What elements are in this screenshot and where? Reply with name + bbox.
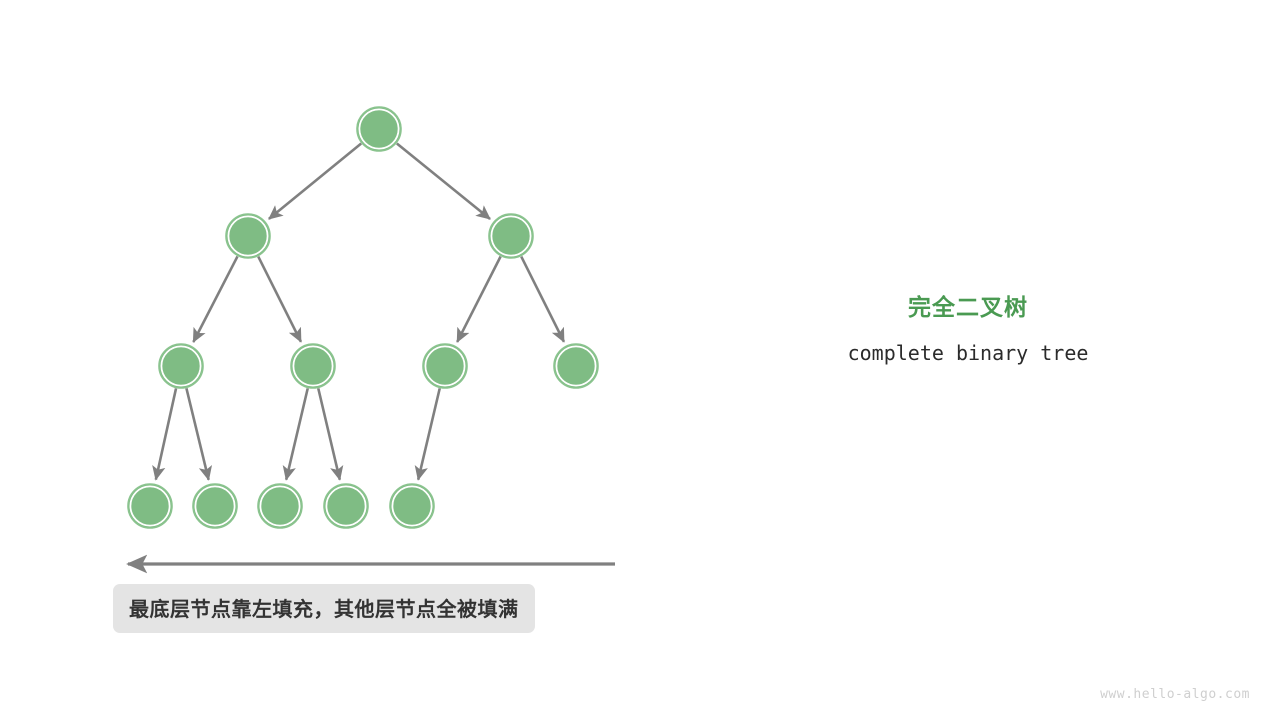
tree-node bbox=[423, 344, 467, 388]
tree-node-disc bbox=[493, 218, 530, 255]
legend-block: 完全二叉树 complete binary tree bbox=[768, 292, 1168, 365]
tree-edge bbox=[521, 257, 564, 342]
tree-edge bbox=[258, 257, 301, 342]
tree-node-disc bbox=[132, 488, 169, 525]
tree-edge bbox=[156, 388, 176, 479]
tree-node bbox=[291, 344, 335, 388]
tree-node bbox=[258, 484, 302, 528]
tree-node-disc bbox=[295, 348, 332, 385]
caption-badge: 最底层节点靠左填充，其他层节点全被填满 bbox=[113, 584, 535, 633]
legend-title: 完全二叉树 bbox=[768, 292, 1168, 322]
tree-node-disc bbox=[197, 488, 234, 525]
legend-subtitle: complete binary tree bbox=[768, 341, 1168, 365]
tree-node bbox=[128, 484, 172, 528]
tree-node bbox=[390, 484, 434, 528]
tree-edge bbox=[286, 388, 308, 479]
tree-node bbox=[226, 214, 270, 258]
tree-node bbox=[357, 107, 401, 151]
tree-edge bbox=[397, 143, 490, 219]
tree-edge bbox=[457, 257, 500, 342]
tree-node bbox=[489, 214, 533, 258]
tree-edge bbox=[418, 388, 440, 479]
tree-node-disc bbox=[230, 218, 267, 255]
diagram-canvas: 完全二叉树 complete binary tree 最底层节点靠左填充，其他层… bbox=[0, 0, 1280, 720]
tree-nodes bbox=[128, 107, 598, 528]
tree-edges bbox=[156, 143, 564, 479]
tree-node-disc bbox=[328, 488, 365, 525]
tree-node-disc bbox=[558, 348, 595, 385]
tree-edge bbox=[269, 144, 361, 219]
tree-node-disc bbox=[361, 111, 398, 148]
tree-node-disc bbox=[394, 488, 431, 525]
tree-node bbox=[324, 484, 368, 528]
tree-node-disc bbox=[262, 488, 299, 525]
tree-node bbox=[554, 344, 598, 388]
tree-edge bbox=[193, 256, 237, 342]
watermark-text: www.hello-algo.com bbox=[1100, 687, 1250, 702]
tree-node bbox=[193, 484, 237, 528]
tree-node-disc bbox=[163, 348, 200, 385]
tree-edge bbox=[318, 388, 340, 479]
tree-node-disc bbox=[427, 348, 464, 385]
tree-node bbox=[159, 344, 203, 388]
tree-edge bbox=[186, 388, 208, 479]
